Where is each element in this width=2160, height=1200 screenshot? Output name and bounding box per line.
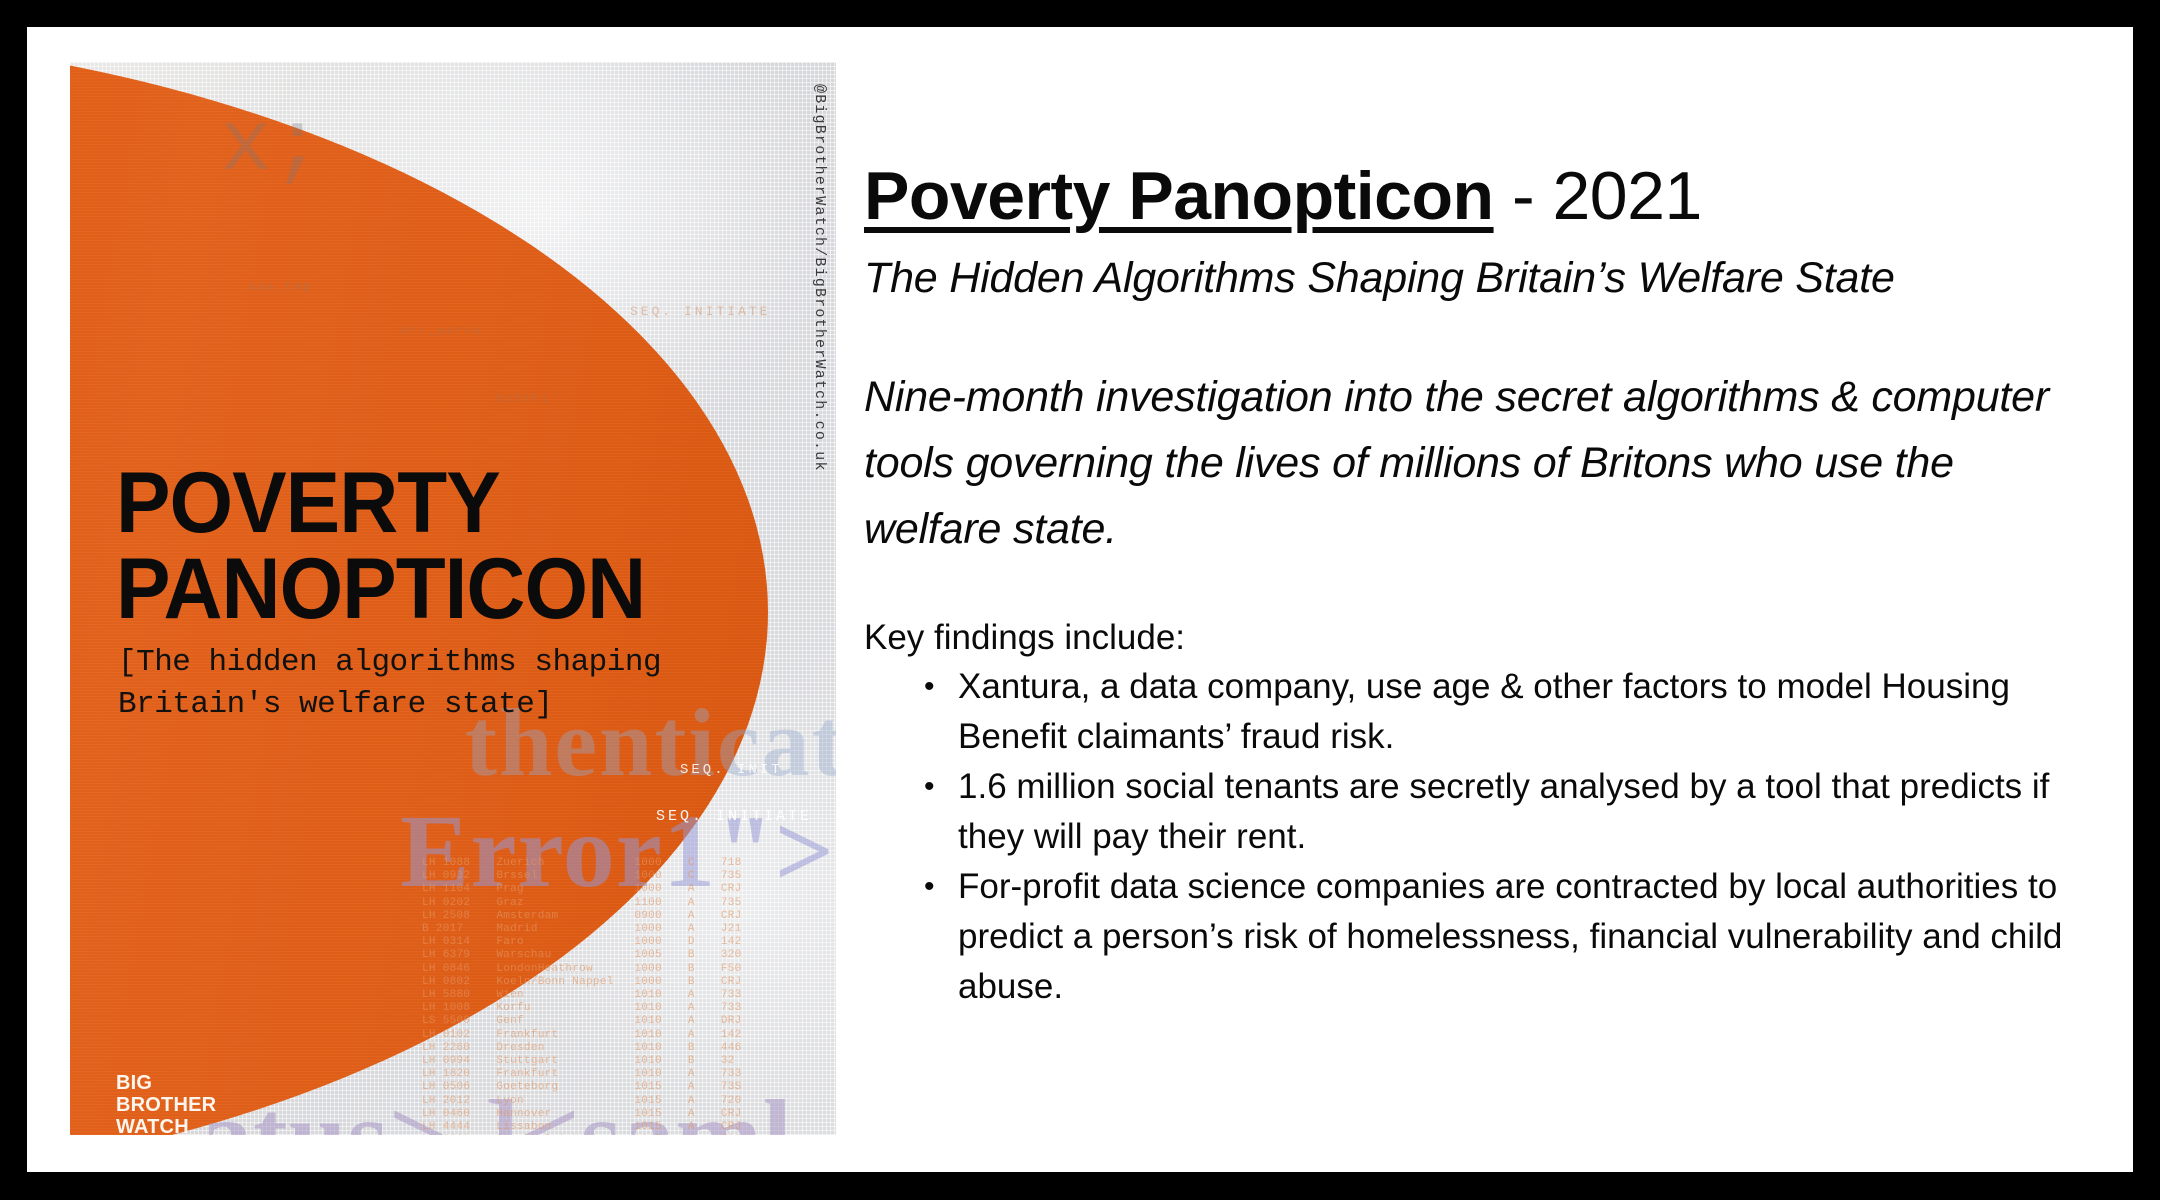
content-column: Poverty Panopticon - 2021 The Hidden Alg… xyxy=(864,62,2104,1012)
cover-title-line-1: POVERTY xyxy=(116,460,645,546)
cover-title-line-2: PANOPTICON xyxy=(116,546,645,632)
ghost-data-column-1: LH 1088 LH 0932 LH 1104 LH 0202 LH 2508 … xyxy=(422,857,470,1135)
ghost-data-table: LH 1088 LH 0932 LH 1104 LH 0202 LH 2508 … xyxy=(422,857,822,1135)
logo-line-1: BIG xyxy=(116,1072,216,1094)
page-title: Poverty Panopticon - 2021 xyxy=(864,158,2104,234)
summary-paragraph: Nine-month investigation into the secret… xyxy=(864,364,2049,562)
slide-frame: x; thenticat Error1">P atus>-]<saml- SEQ… xyxy=(0,0,2160,1200)
key-findings-list: Xantura, a data company, use age & other… xyxy=(864,662,2109,1012)
list-item: 1.6 million social tenants are secretly … xyxy=(924,762,2109,862)
ghost-data-column-2: Zuerich Brssel Prag Graz Amsterdam Madri… xyxy=(496,857,608,1135)
slide-canvas: x; thenticat Error1">P atus>-]<saml- SEQ… xyxy=(27,27,2133,1172)
report-cover-image: x; thenticat Error1">P atus>-]<saml- SEQ… xyxy=(70,62,836,1135)
page-title-main: Poverty Panopticon xyxy=(864,158,1494,234)
cover-subtitle-line-1: [The hidden algorithms shaping xyxy=(118,642,661,684)
logo-line-3: WATCH xyxy=(116,1116,216,1135)
list-item: For-profit data science companies are co… xyxy=(924,862,2109,1012)
page-title-year: - 2021 xyxy=(1494,158,1702,234)
cover-credit-watermark: @BigBrotherWatch/BigBrotherWatch.co.uk xyxy=(811,84,828,472)
ghost-data-column-5: 718 735 CRJ 735 CRJ J21 142 320 F50 CRJ … xyxy=(721,857,742,1135)
cover-subtitle: [The hidden algorithms shaping Britain's… xyxy=(118,642,661,726)
ghost-data-column-3: 1000 1000 1000 1100 0900 1000 1000 1005 … xyxy=(634,857,662,1135)
page-subtitle: The Hidden Algorithms Shaping Britain’s … xyxy=(864,252,2104,304)
ghost-data-column-4: C C A A A A D B B B A A A A B B A A A A … xyxy=(688,857,695,1135)
key-findings-label: Key findings include: xyxy=(864,616,2104,660)
cover-title: POVERTY PANOPTICON xyxy=(116,460,645,632)
big-brother-watch-logo: BIG BROTHER WATCH xyxy=(116,1072,216,1135)
cover-subtitle-line-2: Britain's welfare state] xyxy=(118,684,661,726)
list-item: Xantura, a data company, use age & other… xyxy=(924,662,2109,762)
logo-line-2: BROTHER xyxy=(116,1094,216,1116)
